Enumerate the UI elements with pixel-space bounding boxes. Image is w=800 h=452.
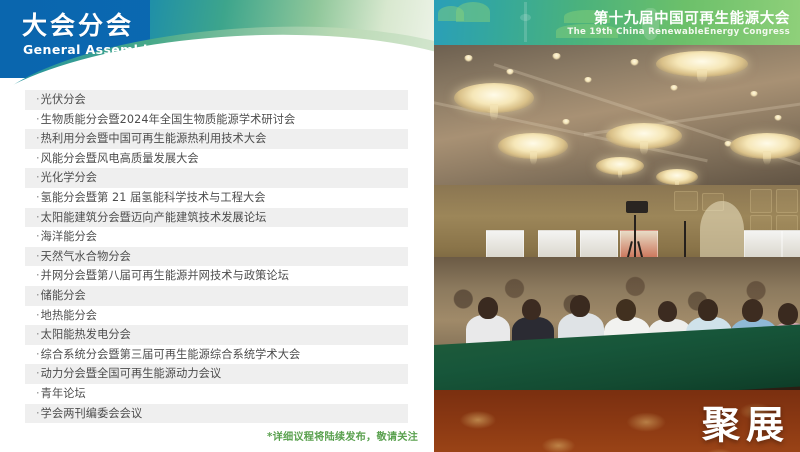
bullet-icon: · xyxy=(36,348,40,361)
tower-sphere-icon xyxy=(520,14,531,21)
branch-list-item[interactable]: ·天然气水合物分会 xyxy=(25,247,408,267)
conference-photo: 聚展 xyxy=(434,45,800,452)
branch-list-item-label: 热利用分会暨中国可再生能源热利用技术大会 xyxy=(41,132,267,145)
branch-list-item-label: 风能分会暨风电高质量发展大会 xyxy=(41,152,199,165)
bullet-icon: · xyxy=(36,328,40,341)
branch-list-item[interactable]: ·综合系统分会暨第三届可再生能源综合系统学术大会 xyxy=(25,345,408,365)
branch-list-item-label: 光化学分会 xyxy=(41,171,97,184)
ceiling-light xyxy=(506,69,514,75)
bullet-icon: · xyxy=(36,289,40,302)
congress-banner: 第十九届中国可再生能源大会 The 19th China RenewableEn… xyxy=(434,0,800,45)
bullet-icon: · xyxy=(36,152,40,165)
branch-list-item[interactable]: ·太阳能建筑分会暨迈向产能建筑技术发展论坛 xyxy=(25,208,408,228)
branch-session-list: ·光伏分会·生物质能分会暨2024年全国生物质能源学术研讨会·热利用分会暨中国可… xyxy=(25,90,408,423)
branch-list-item[interactable]: ·储能分会 xyxy=(25,286,408,306)
branch-list-item[interactable]: ·热利用分会暨中国可再生能源热利用技术大会 xyxy=(25,129,408,149)
bullet-icon: · xyxy=(36,407,40,420)
ceiling-light xyxy=(630,59,639,66)
branch-list-item-label: 青年论坛 xyxy=(41,387,86,400)
chandelier xyxy=(730,133,800,159)
left-panel: 大会分会 General Assembly Branch ·光伏分会·生物质能分… xyxy=(0,0,440,452)
chandelier xyxy=(656,51,748,77)
branch-list-item-label: 太阳能建筑分会暨迈向产能建筑技术发展论坛 xyxy=(41,211,267,224)
branch-list-item[interactable]: ·学会两刊编委会会议 xyxy=(25,404,408,424)
branch-list-item-label: 光伏分会 xyxy=(41,93,86,106)
branch-list-item-label: 储能分会 xyxy=(41,289,86,302)
branch-list-item[interactable]: ·太阳能热发电分会 xyxy=(25,325,408,345)
attendee-head xyxy=(478,297,498,319)
bullet-icon: · xyxy=(36,387,40,400)
ceiling-light xyxy=(670,85,678,91)
bullet-icon: · xyxy=(36,230,40,243)
branch-list-item-label: 天然气水合物分会 xyxy=(41,250,131,263)
congress-title-en: The 19th China RenewableEnergy Congress xyxy=(567,27,790,37)
bullet-icon: · xyxy=(36,269,40,282)
branch-list-item-label: 生物质能分会暨2024年全国生物质能源学术研讨会 xyxy=(41,113,296,126)
slide-root: 大会分会 General Assembly Branch ·光伏分会·生物质能分… xyxy=(0,0,800,452)
branch-list-item[interactable]: ·地热能分会 xyxy=(25,306,408,326)
wall-panel xyxy=(750,189,772,213)
branch-list-item[interactable]: ·并网分会暨第八届可再生能源并网技术与政策论坛 xyxy=(25,266,408,286)
hill-shape-2 xyxy=(456,2,490,22)
page-title-cn: 大会分会 xyxy=(22,12,134,40)
ceiling-light xyxy=(552,53,561,60)
ceiling-light xyxy=(562,119,570,125)
branch-list-item-label: 太阳能热发电分会 xyxy=(41,328,131,341)
chandelier xyxy=(498,133,568,159)
branch-list-item[interactable]: ·动力分会暨全国可再生能源动力会议 xyxy=(25,364,408,384)
ceiling-light xyxy=(464,55,473,62)
agenda-note: *详细议程将陆续发布，敬请关注 xyxy=(25,428,418,443)
branch-list-item-label: 氢能分会暨第 21 届氢能科学技术与工程大会 xyxy=(41,191,266,204)
branch-list-item-label: 并网分会暨第八届可再生能源并网技术与政策论坛 xyxy=(41,269,289,282)
branch-list-item-label: 综合系统分会暨第三届可再生能源综合系统学术大会 xyxy=(41,348,301,361)
wall-panel xyxy=(776,189,798,213)
attendee-head xyxy=(778,303,798,325)
bullet-icon: · xyxy=(36,250,40,263)
bullet-icon: · xyxy=(36,93,40,106)
attendee-head xyxy=(522,299,541,320)
page-title-en: General Assembly Branch xyxy=(23,42,213,57)
chandelier xyxy=(596,157,644,175)
bullet-icon: · xyxy=(36,191,40,204)
attendee-head xyxy=(616,299,636,321)
attendee-head xyxy=(742,299,763,322)
bullet-icon: · xyxy=(36,113,40,126)
ceiling-light xyxy=(584,77,592,83)
branch-list-item[interactable]: ·氢能分会暨第 21 届氢能科学技术与工程大会 xyxy=(25,188,408,208)
tower-icon xyxy=(524,2,527,42)
bullet-icon: · xyxy=(36,309,40,322)
bullet-icon: · xyxy=(36,211,40,224)
ceiling-light xyxy=(750,91,758,97)
site-watermark: 聚展 xyxy=(702,406,790,444)
attendee-head xyxy=(570,295,590,317)
bullet-icon: · xyxy=(36,367,40,380)
branch-list-item[interactable]: ·青年论坛 xyxy=(25,384,408,404)
chandelier xyxy=(606,123,682,149)
branch-list-item[interactable]: ·光伏分会 xyxy=(25,90,408,110)
branch-list-item[interactable]: ·风能分会暨风电高质量发展大会 xyxy=(25,149,408,169)
branch-list-item-label: 地热能分会 xyxy=(41,309,97,322)
video-camera xyxy=(626,201,648,213)
branch-list-item[interactable]: ·海洋能分会 xyxy=(25,227,408,247)
wall-panel xyxy=(674,191,698,211)
chandelier xyxy=(656,169,698,185)
branch-list-item[interactable]: ·光化学分会 xyxy=(25,168,408,188)
branch-list-item-label: 海洋能分会 xyxy=(41,230,97,243)
ceiling-light xyxy=(774,115,782,121)
camera-tripod xyxy=(634,215,636,263)
branch-list-item-label: 动力分会暨全国可再生能源动力会议 xyxy=(41,367,222,380)
attendee-head xyxy=(698,299,718,321)
branch-list-item-label: 学会两刊编委会会议 xyxy=(41,407,143,420)
branch-list-item[interactable]: ·生物质能分会暨2024年全国生物质能源学术研讨会 xyxy=(25,110,408,130)
bullet-icon: · xyxy=(36,171,40,184)
congress-title-cn: 第十九届中国可再生能源大会 xyxy=(594,7,790,28)
chandelier xyxy=(454,83,534,113)
attendee-head xyxy=(658,301,677,322)
bullet-icon: · xyxy=(36,132,40,145)
